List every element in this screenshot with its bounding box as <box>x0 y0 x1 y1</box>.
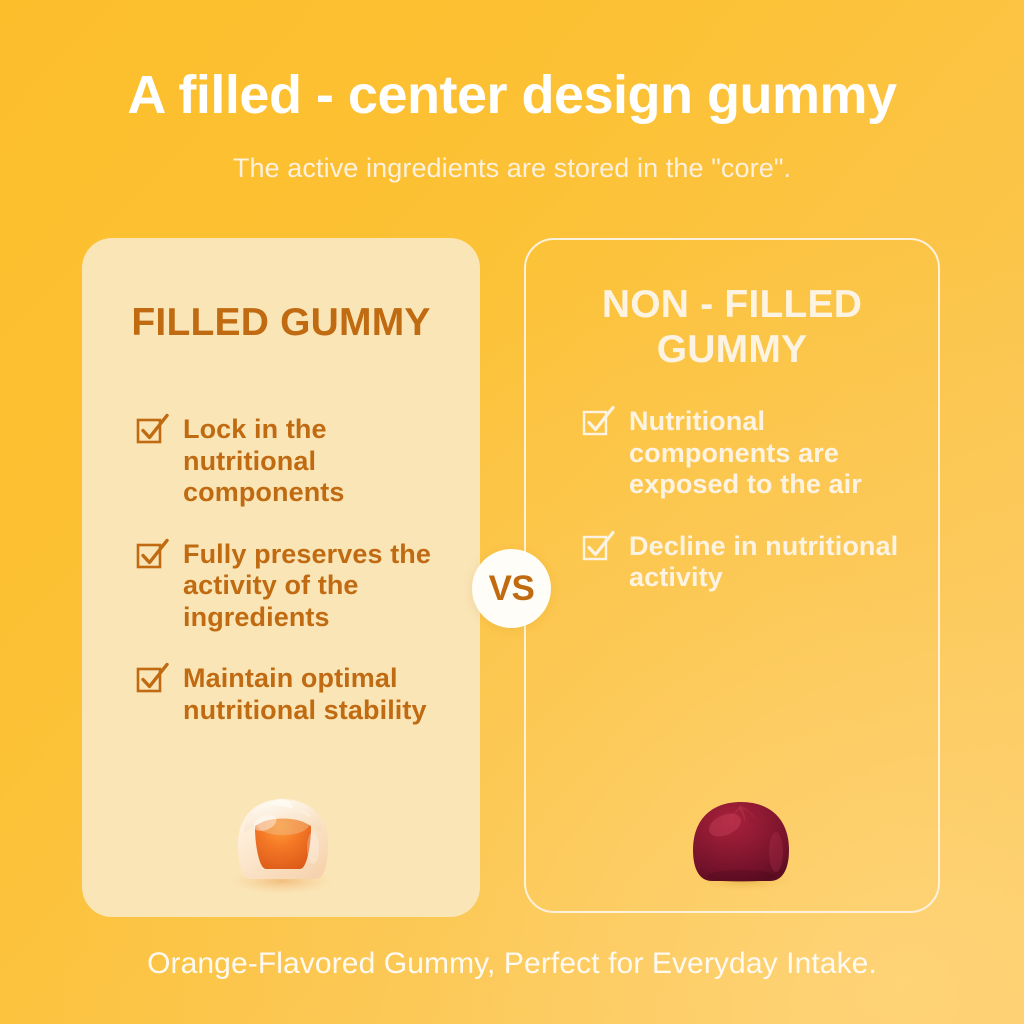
list-item-label: Nutritional components are exposed to th… <box>629 406 916 501</box>
checkbox-checked-icon <box>136 667 166 697</box>
filled-gummy-heading: FILLED GUMMY <box>82 300 480 345</box>
checkbox-checked-icon <box>136 543 166 573</box>
list-item-label: Fully preserves the activity of the ingr… <box>183 539 456 634</box>
list-item: Lock in the nutritional components <box>136 414 456 509</box>
page-title: A filled - center design gummy <box>0 66 1024 124</box>
vs-badge-label: VS <box>489 571 535 606</box>
non-filled-gummy-heading: NON - FILLED GUMMY <box>526 282 938 372</box>
list-item: Nutritional components are exposed to th… <box>582 406 916 501</box>
list-item: Maintain optimal nutritional stability <box>136 663 456 726</box>
vs-badge: VS <box>472 549 551 628</box>
list-item: Decline in nutritional activity <box>582 531 916 594</box>
list-item-label: Maintain optimal nutritional stability <box>183 663 456 726</box>
checkbox-checked-icon <box>582 410 612 440</box>
filled-gummy-image <box>208 786 358 894</box>
checkbox-checked-icon <box>582 535 612 565</box>
non-filled-gummy-feature-list: Nutritional components are exposed to th… <box>526 406 938 624</box>
filled-gummy-feature-list: Lock in the nutritional components Fully… <box>82 414 480 757</box>
poster-canvas: A filled - center design gummy The activ… <box>0 0 1024 1024</box>
list-item: Fully preserves the activity of the ingr… <box>136 539 456 634</box>
non-filled-gummy-image <box>678 792 804 892</box>
list-item-label: Decline in nutritional activity <box>629 531 916 594</box>
checkbox-checked-icon <box>136 418 166 448</box>
list-item-label: Lock in the nutritional components <box>183 414 456 509</box>
page-subtitle: The active ingredients are stored in the… <box>0 152 1024 184</box>
footer-tagline: Orange-Flavored Gummy, Perfect for Every… <box>0 947 1024 981</box>
